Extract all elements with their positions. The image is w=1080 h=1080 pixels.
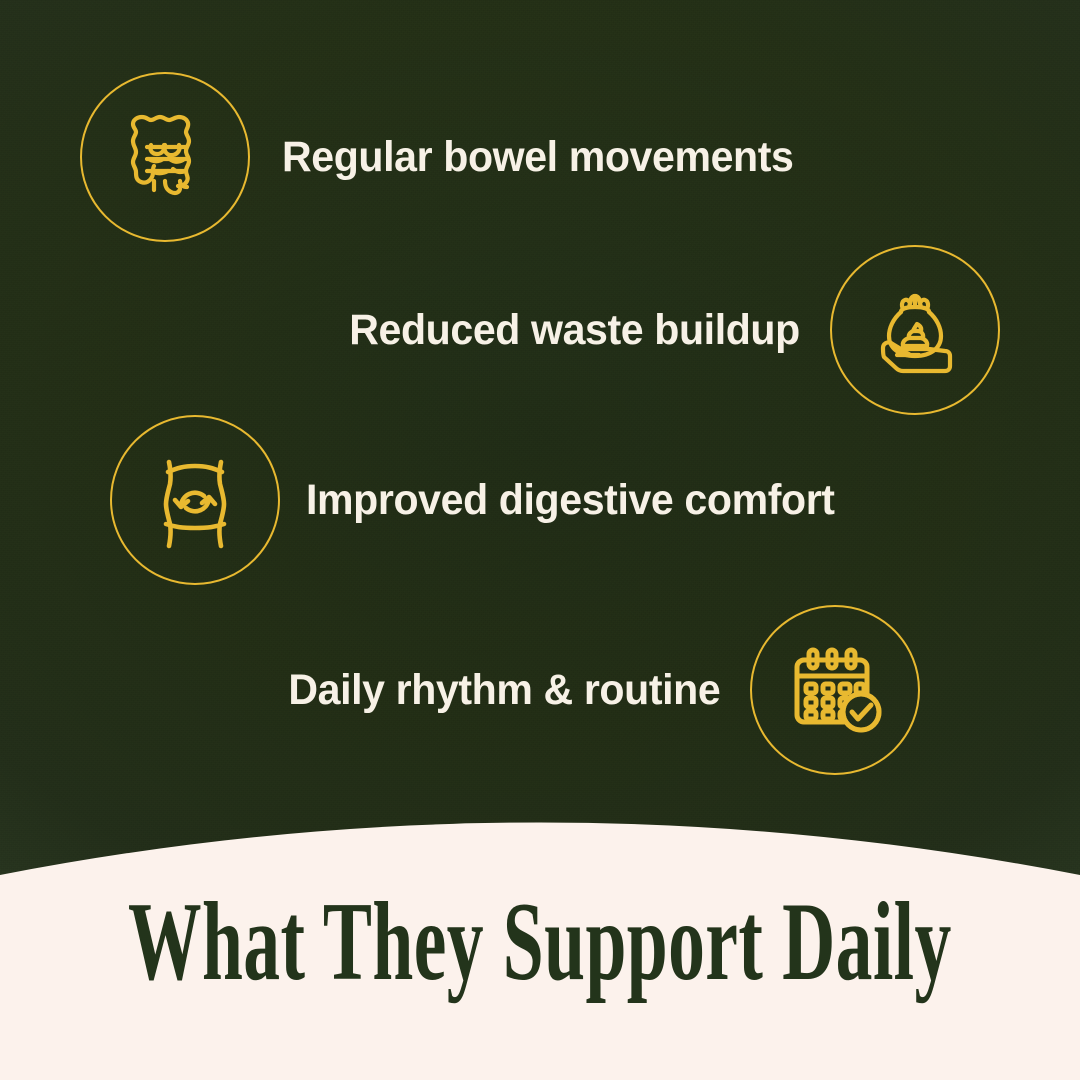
benefit-row-4: Daily rhythm & routine	[268, 605, 920, 775]
calendar-check-icon-badge	[750, 605, 920, 775]
infographic-canvas: Regular bowel movements Reduced waste bu…	[0, 0, 1080, 1080]
benefit-label-1: Regular bowel movements	[282, 136, 794, 179]
intestine-icon-badge	[80, 72, 250, 242]
hand-holding-waste-bag-icon	[859, 274, 971, 386]
hand-holding-waste-bag-icon-badge	[830, 245, 1000, 415]
intestine-icon	[109, 101, 221, 213]
benefit-label-2: Reduced waste buildup	[349, 309, 800, 352]
benefit-label-4: Daily rhythm & routine	[288, 669, 720, 712]
page-title: What They Support Daily	[128, 885, 952, 997]
benefit-row-3: Improved digestive comfort	[110, 415, 860, 585]
benefit-label-3: Improved digestive comfort	[306, 479, 835, 522]
footer-title-area: What They Support Daily	[0, 895, 1080, 987]
torso-refresh-icon	[139, 444, 251, 556]
benefit-row-1: Regular bowel movements	[80, 72, 818, 242]
torso-refresh-icon-badge	[110, 415, 280, 585]
benefit-row-2: Reduced waste buildup	[328, 245, 1000, 415]
calendar-check-icon	[779, 634, 891, 746]
